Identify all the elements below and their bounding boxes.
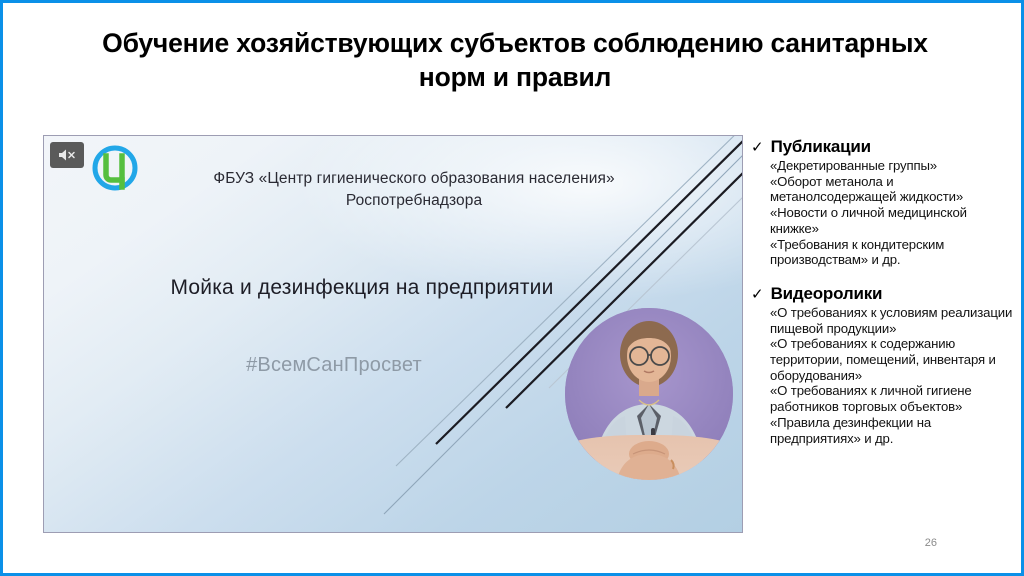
video-headline: Мойка и дезинфекция на предприятии bbox=[72, 276, 652, 300]
bullet-title: Видеоролики bbox=[771, 284, 883, 304]
video-hashtag: #ВсемСанПросвет bbox=[154, 354, 514, 377]
bullet-heading: ✓ Видеоролики bbox=[751, 284, 1015, 304]
list-item: «О требованиях к личной гигиене работник… bbox=[770, 383, 1015, 414]
bullet-heading: ✓ Публикации bbox=[751, 137, 1015, 157]
bullet-block-publications: ✓ Публикации «Декретированные группы» «О… bbox=[751, 137, 1015, 268]
check-icon: ✓ bbox=[751, 287, 764, 302]
bullet-block-videos: ✓ Видеоролики «О требованиях к условиям … bbox=[751, 284, 1015, 446]
page-title: Обучение хозяйствующих субъектов соблюде… bbox=[99, 27, 931, 95]
video-player[interactable]: ФБУЗ «Центр гигиенического образования н… bbox=[43, 135, 743, 533]
page-number: 26 bbox=[925, 537, 937, 549]
video-organization-name: ФБУЗ «Центр гигиенического образования н… bbox=[144, 168, 684, 212]
cgon-logo-icon bbox=[89, 142, 141, 194]
bullet-list: «О требованиях к условиям реализации пищ… bbox=[751, 305, 1015, 446]
presenter-portrait bbox=[565, 308, 733, 480]
list-item: «Требования к кондитерским производствам… bbox=[770, 237, 1015, 268]
bullet-title: Публикации bbox=[771, 137, 871, 157]
list-item: «Правила дезинфекции на предприятиях» и … bbox=[770, 415, 1015, 446]
list-item: «Новости о личной медицинской книжке» bbox=[770, 205, 1015, 236]
speaker-muted-icon[interactable] bbox=[50, 142, 84, 168]
check-icon: ✓ bbox=[751, 140, 764, 155]
bullet-panel: ✓ Публикации «Декретированные группы» «О… bbox=[751, 137, 1015, 462]
list-item: «О требованиях к содержанию территории, … bbox=[770, 336, 1015, 383]
presentation-slide: Обучение хозяйствующих субъектов соблюде… bbox=[0, 0, 1024, 576]
list-item: «Оборот метанола и метанолсодержащей жид… bbox=[770, 174, 1015, 205]
bullet-list: «Декретированные группы» «Оборот метанол… bbox=[751, 158, 1015, 268]
list-item: «Декретированные группы» bbox=[770, 158, 1015, 174]
list-item: «О требованиях к условиям реализации пищ… bbox=[770, 305, 1015, 336]
